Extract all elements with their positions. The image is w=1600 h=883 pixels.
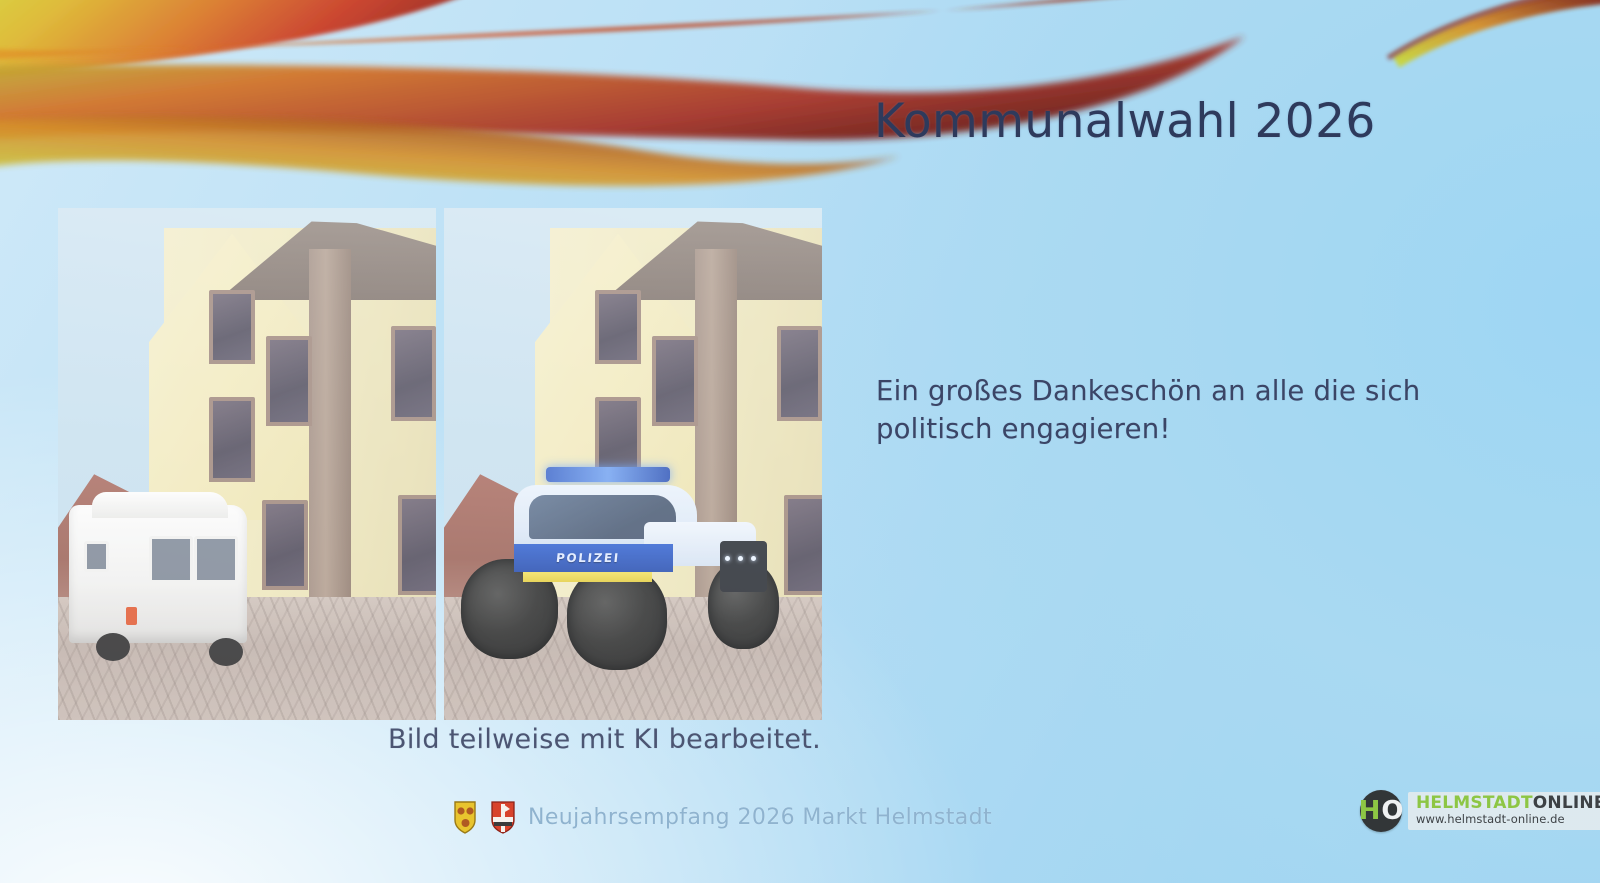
photo-original-building: [58, 208, 436, 720]
helmstadt-online-watermark[interactable]: H O HELMSTADTONLINE www.helmstadt-online…: [1360, 790, 1600, 832]
markt-crest-icon: [490, 800, 516, 834]
ho-logo-icon: H O: [1360, 790, 1402, 832]
logo-letter-h: H: [1359, 798, 1381, 824]
photo-ai-edited-building: POLIZEI: [444, 208, 822, 720]
presentation-slide: Kommunalwahl 2026 Ein großes Dankeschön …: [0, 0, 1600, 883]
watermark-brand-dark: ONLINE: [1533, 793, 1600, 813]
slide-body-text: Ein großes Dankeschön an alle die sich p…: [876, 373, 1516, 449]
watermark-brand: HELMSTADTONLINE: [1416, 795, 1600, 813]
watermark-url: www.helmstadt-online.de: [1416, 813, 1600, 826]
photo-projection-haze: [444, 208, 822, 720]
watermark-brand-green: HELMSTADT: [1416, 793, 1533, 813]
photo-pair: POLIZEI: [58, 208, 822, 720]
image-caption: Bild teilweise mit KI bearbeitet.: [388, 724, 821, 755]
watermark-text-block: HELMSTADTONLINE www.helmstadt-online.de: [1408, 792, 1600, 830]
slide-title: Kommunalwahl 2026: [874, 94, 1376, 149]
slide-footer: Neujahrsempfang 2026 Markt Helmstadt: [452, 800, 992, 834]
photo-projection-haze: [58, 208, 436, 720]
footer-event-label: Neujahrsempfang 2026 Markt Helmstadt: [528, 805, 992, 830]
helmstadt-crest-icon: [452, 800, 478, 834]
logo-letter-o: O: [1381, 798, 1403, 824]
